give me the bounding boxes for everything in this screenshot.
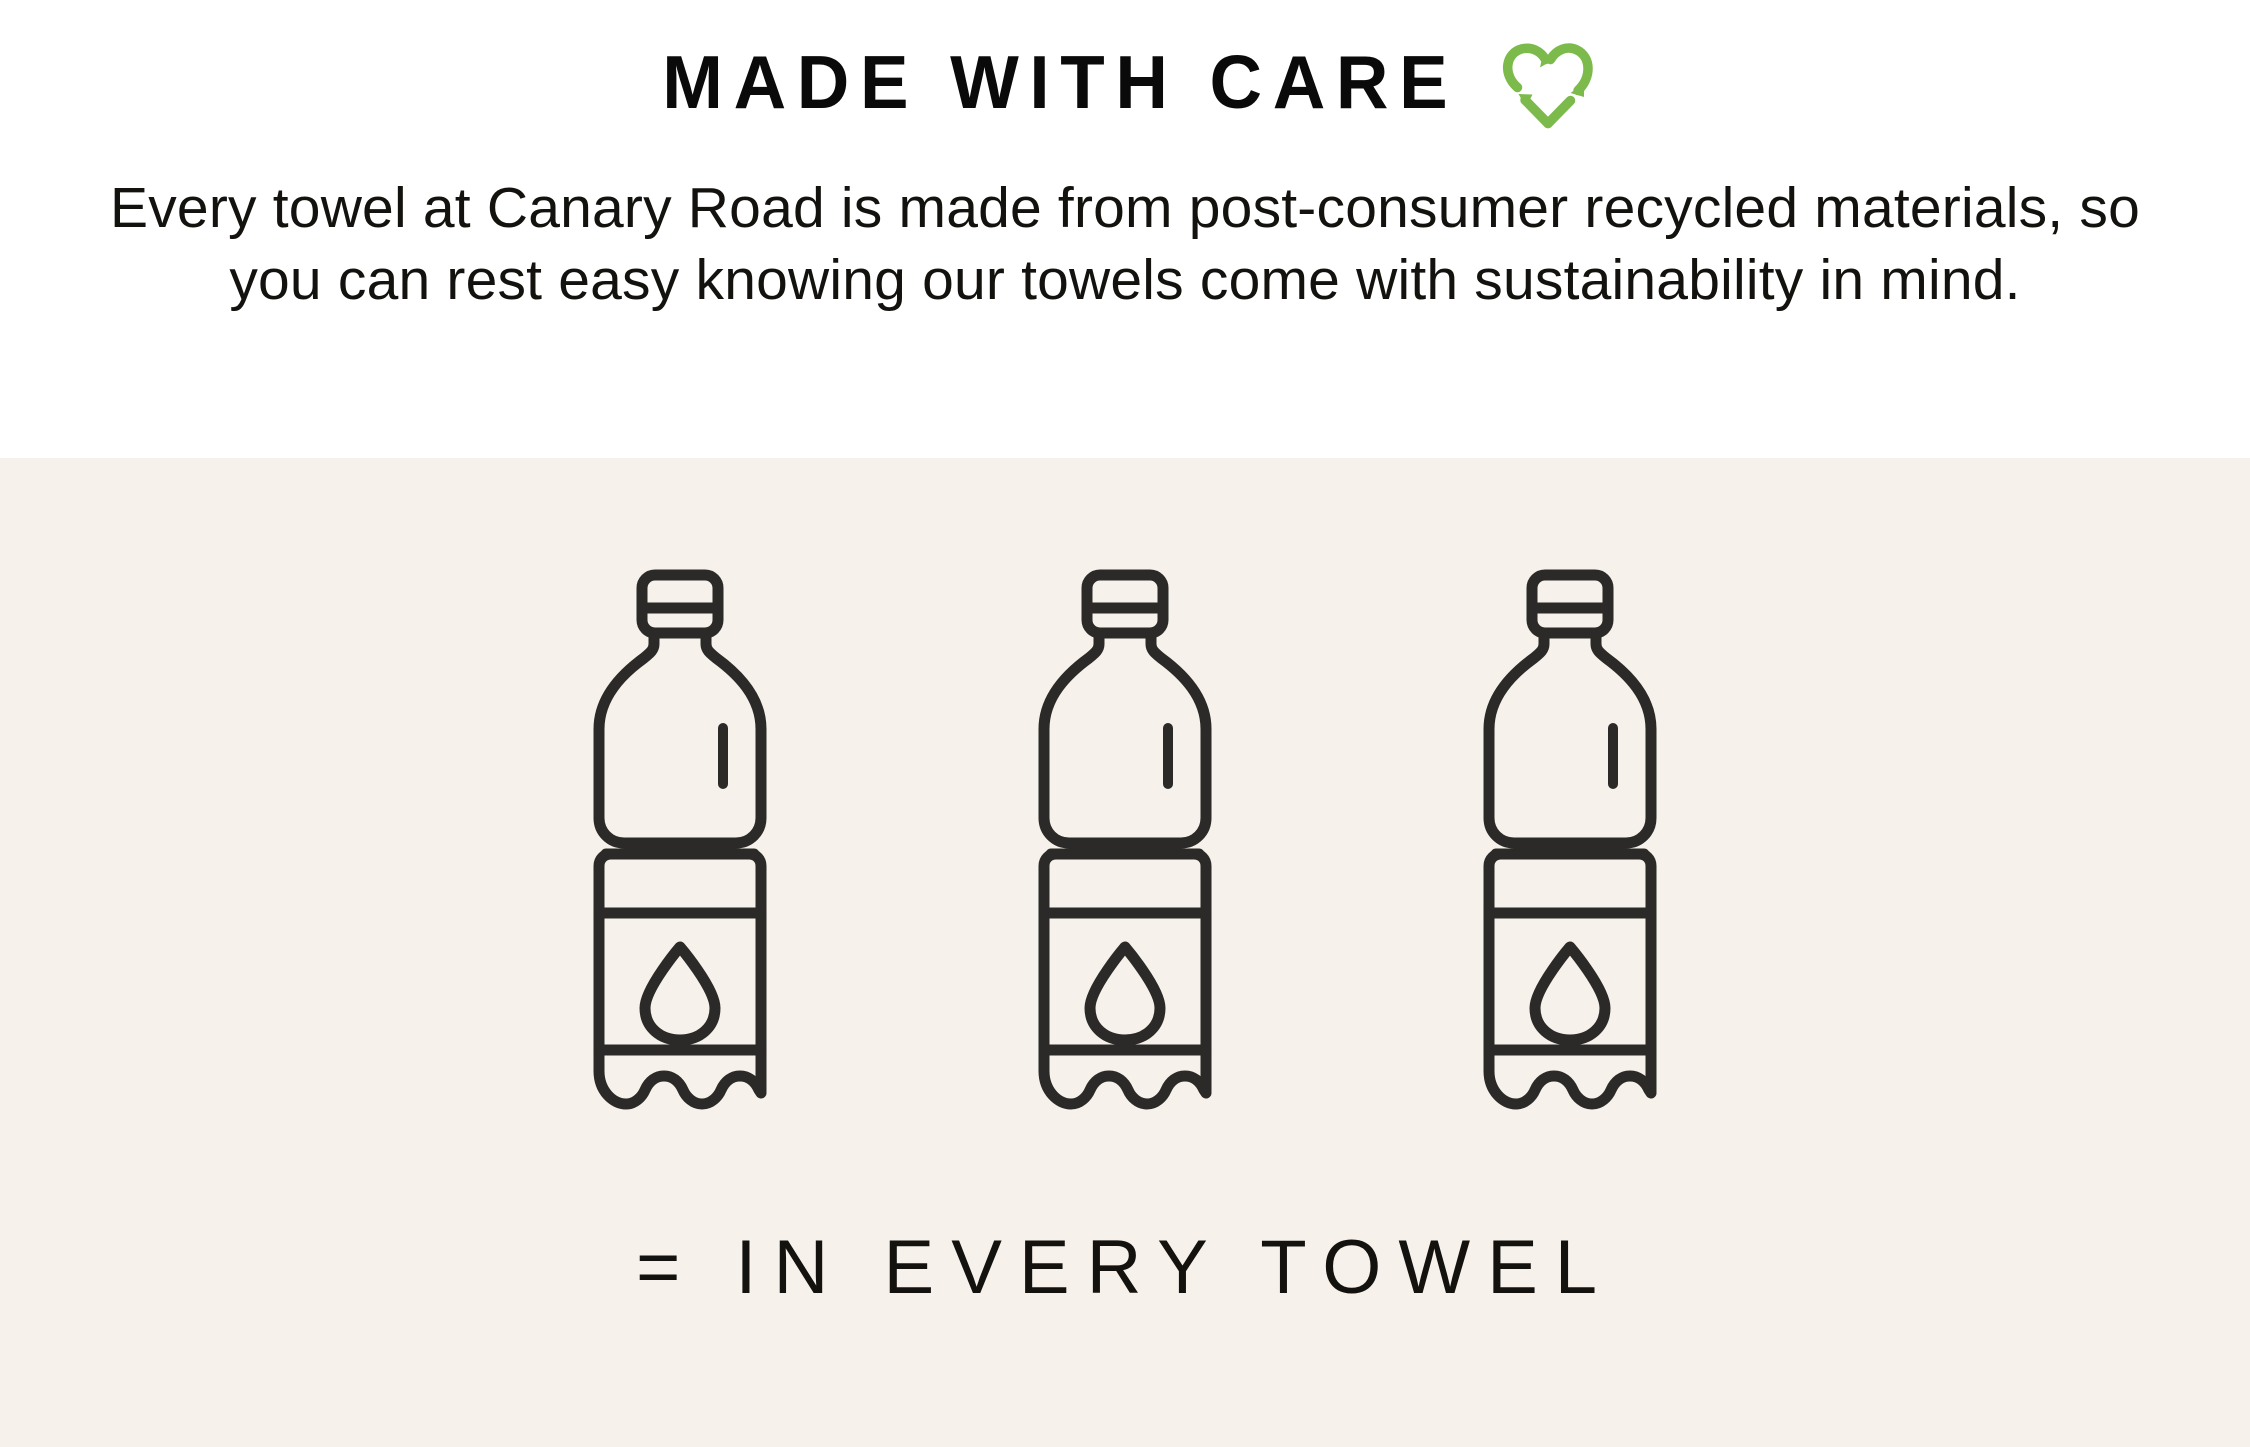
description-text: Every towel at Canary Road is made from … <box>110 172 2140 317</box>
made-with-care-panel: MADE WITH CARE <box>0 0 2250 1447</box>
illustration-section: = IN EVERY TOWEL <box>0 458 2250 1447</box>
water-drop-icon <box>1535 947 1605 1040</box>
bottle-group <box>580 566 1670 1146</box>
equation-caption: = IN EVERY TOWEL <box>636 1224 1614 1311</box>
water-drop-icon <box>645 947 715 1040</box>
water-bottle-icon <box>580 566 780 1146</box>
page-title: MADE WITH CARE <box>662 45 1458 120</box>
recycle-heart-icon <box>1496 37 1600 133</box>
water-bottle-icon <box>1470 566 1670 1146</box>
water-bottle-icon <box>1025 566 1225 1146</box>
header-section: MADE WITH CARE <box>0 0 2250 458</box>
water-drop-icon <box>1090 947 1160 1040</box>
headline-row: MADE WITH CARE <box>650 28 1601 136</box>
